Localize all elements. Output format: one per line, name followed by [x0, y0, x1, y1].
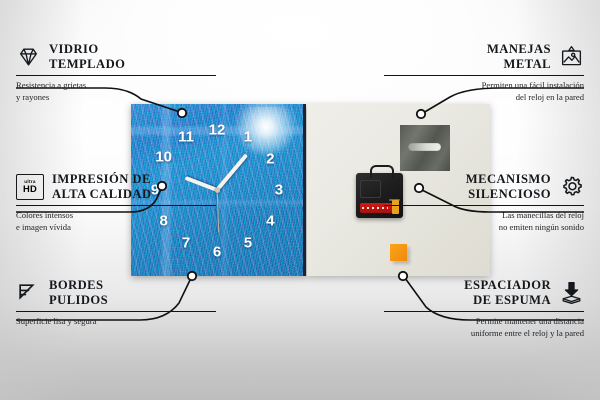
clock-numeral: 1 — [244, 129, 252, 144]
clock-numeral: 2 — [266, 152, 274, 167]
callout-title-line1: BORDES — [49, 278, 104, 292]
callout-title-line1: MANEJAS — [487, 42, 551, 56]
callout-title-line1: MECANISMO — [466, 172, 551, 186]
callout-desc-line1: Colores intensos — [16, 210, 73, 220]
callout-desc-line1: Superficie lisa y segura — [16, 316, 96, 326]
callout-manejas-metal: MANEJAS METAL Permiten una fácil instala… — [384, 42, 584, 104]
hanger-slot — [408, 143, 441, 151]
clock-numeral: 4 — [266, 213, 274, 228]
ultra-hd-icon: ultra HD — [16, 174, 44, 200]
callout-desc-line1: Las manecillas del reloj — [502, 210, 584, 220]
callout-desc-line1: Resistencia a grietas — [16, 80, 86, 90]
callout-rule — [16, 75, 216, 76]
clock-numeral: 11 — [178, 129, 194, 144]
callout-title-line2: PULIDOS — [49, 293, 108, 307]
callout-bordes-pulidos: BORDES PULIDOS Superficie lisa y segura — [16, 278, 216, 328]
callout-title-line1: ESPACIADOR — [464, 278, 551, 292]
callout-title-line2: SILENCIOSO — [468, 187, 551, 201]
callout-title-line2: TEMPLADO — [49, 57, 125, 71]
callout-title-line2: DE ESPUMA — [473, 293, 551, 307]
clock-numeral: 7 — [182, 236, 190, 251]
callout-rule — [16, 311, 216, 312]
foam-spacer-square — [390, 244, 407, 261]
callout-desc-line1: Permiten una fácil instalación — [482, 80, 584, 90]
callout-mecanismo-silencioso: MECANISMO SILENCIOSO Las manecillas del … — [384, 172, 584, 234]
callout-espaciador-espuma: ESPACIADOR DE ESPUMA Permite mantener un… — [384, 278, 584, 340]
clock-numeral: 10 — [155, 150, 172, 165]
clock-numeral: 12 — [209, 122, 226, 137]
callout-desc-line2: y rayones — [16, 92, 49, 102]
callout-vidrio-templado: VIDRIO TEMPLADO Resistencia a grietas y … — [16, 42, 216, 104]
callout-desc-line1: Permite mantener una distancia — [476, 316, 584, 326]
picture-frame-icon — [559, 44, 584, 69]
metal-hanger-plate — [400, 125, 450, 171]
movement-seam — [360, 180, 381, 198]
callout-desc-line2: e imagen vívida — [16, 222, 71, 232]
callout-rule — [384, 75, 584, 76]
callout-desc-line2: del reloj en la pared — [516, 92, 584, 102]
gear-icon — [559, 174, 584, 199]
callout-impresion-alta-calidad: ultra HD IMPRESIÓN DE ALTA CALIDAD Color… — [16, 172, 216, 234]
callout-desc-line2: no emiten ningún sonido — [499, 222, 584, 232]
callout-title-line1: VIDRIO — [49, 42, 99, 56]
callout-title-line2: METAL — [504, 57, 552, 71]
clock-numeral: 6 — [213, 244, 221, 259]
foam-spacer-icon — [559, 280, 584, 305]
diamond-icon — [16, 44, 41, 69]
infographic-canvas: 12 1 2 3 4 5 6 7 8 9 10 11 — [0, 0, 600, 400]
callout-rule — [384, 205, 584, 206]
clock-numeral: 5 — [244, 236, 252, 251]
callout-title-line1: IMPRESIÓN DE — [52, 172, 151, 186]
callout-rule — [16, 205, 216, 206]
polished-edges-icon — [16, 280, 41, 305]
callout-rule — [384, 311, 584, 312]
clock-numeral: 3 — [275, 183, 283, 198]
ultra-hd-icon-main: HD — [23, 184, 37, 193]
callout-title-line2: ALTA CALIDAD — [52, 187, 152, 201]
callout-desc-line2: uniforme entre el reloj y la pared — [471, 328, 584, 338]
